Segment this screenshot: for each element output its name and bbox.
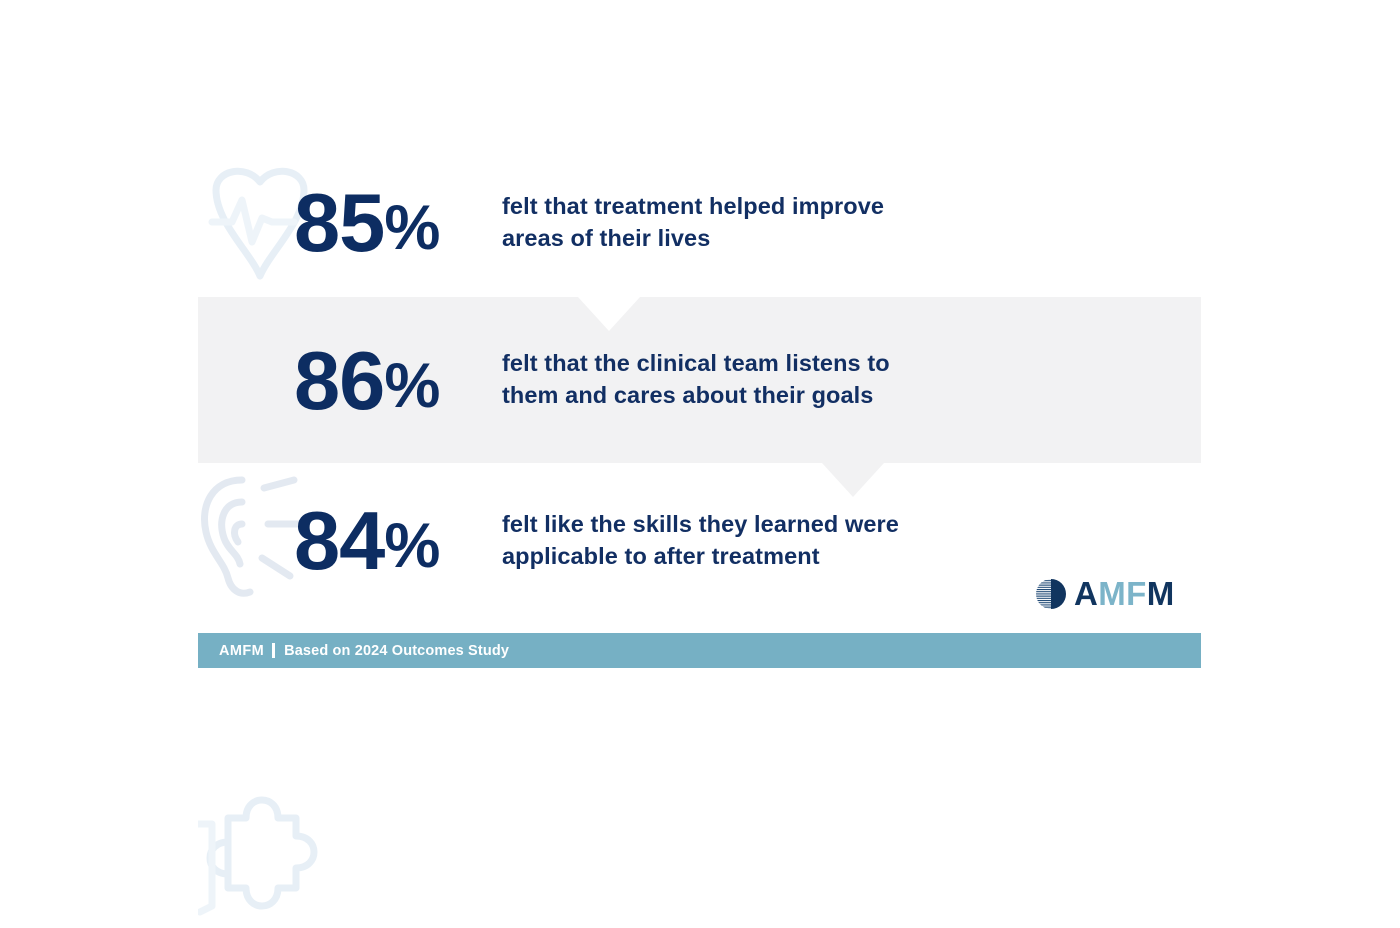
- percent-symbol: %: [384, 511, 439, 581]
- stat-percentage: 85%: [294, 181, 502, 264]
- stat-description-line-2: them and cares about their goals: [502, 380, 890, 412]
- stat-content: 86% felt that the clinical team listens …: [198, 339, 1201, 422]
- stat-description: felt that the clinical team listens to t…: [502, 348, 890, 412]
- stat-percentage: 86%: [294, 339, 502, 422]
- stat-row: 86% felt that the clinical team listens …: [198, 297, 1201, 463]
- logo-letter-a: A: [1074, 575, 1098, 612]
- footer-source-note: Based on 2024 Outcomes Study: [284, 643, 509, 659]
- stat-description-line-2: areas of their lives: [502, 223, 884, 255]
- stat-description-line-2: applicable to after treatment: [502, 541, 899, 573]
- logo-letter-f: F: [1126, 575, 1147, 612]
- stats-block: 85% felt that treatment helped improve a…: [198, 148, 1201, 618]
- logo-letter-m1: M: [1098, 575, 1126, 612]
- amfm-wordmark: AMFM: [1074, 577, 1175, 610]
- percent-symbol: %: [384, 193, 439, 263]
- infographic-canvas: 85% felt that treatment helped improve a…: [0, 0, 1400, 800]
- stat-row: 85% felt that treatment helped improve a…: [198, 148, 1201, 297]
- footer-divider: [272, 643, 275, 658]
- stat-content: 85% felt that treatment helped improve a…: [198, 181, 1201, 264]
- amfm-circle-mark-icon: [1035, 578, 1067, 610]
- source-footer-bar: AMFM Based on 2024 Outcomes Study: [198, 633, 1201, 668]
- stat-description: felt like the skills they learned were a…: [502, 509, 899, 573]
- stat-percentage: 84%: [294, 499, 502, 582]
- footer-brand: AMFM: [219, 643, 264, 659]
- stat-description: felt that treatment helped improve areas…: [502, 191, 884, 255]
- stat-description-line-1: felt like the skills they learned were: [502, 509, 899, 541]
- stat-content: 84% felt like the skills they learned we…: [198, 499, 1201, 582]
- stat-description-line-1: felt that the clinical team listens to: [502, 348, 890, 380]
- percent-symbol: %: [384, 351, 439, 421]
- footer-text: AMFM Based on 2024 Outcomes Study: [198, 643, 509, 659]
- stat-value: 86: [294, 334, 384, 427]
- stat-value: 84: [294, 494, 384, 587]
- stat-description-line-1: felt that treatment helped improve: [502, 191, 884, 223]
- stat-value: 85: [294, 176, 384, 269]
- puzzle-piece-icon: [198, 788, 328, 928]
- logo-letter-m2: M: [1147, 575, 1175, 612]
- amfm-logo: AMFM: [1035, 577, 1175, 610]
